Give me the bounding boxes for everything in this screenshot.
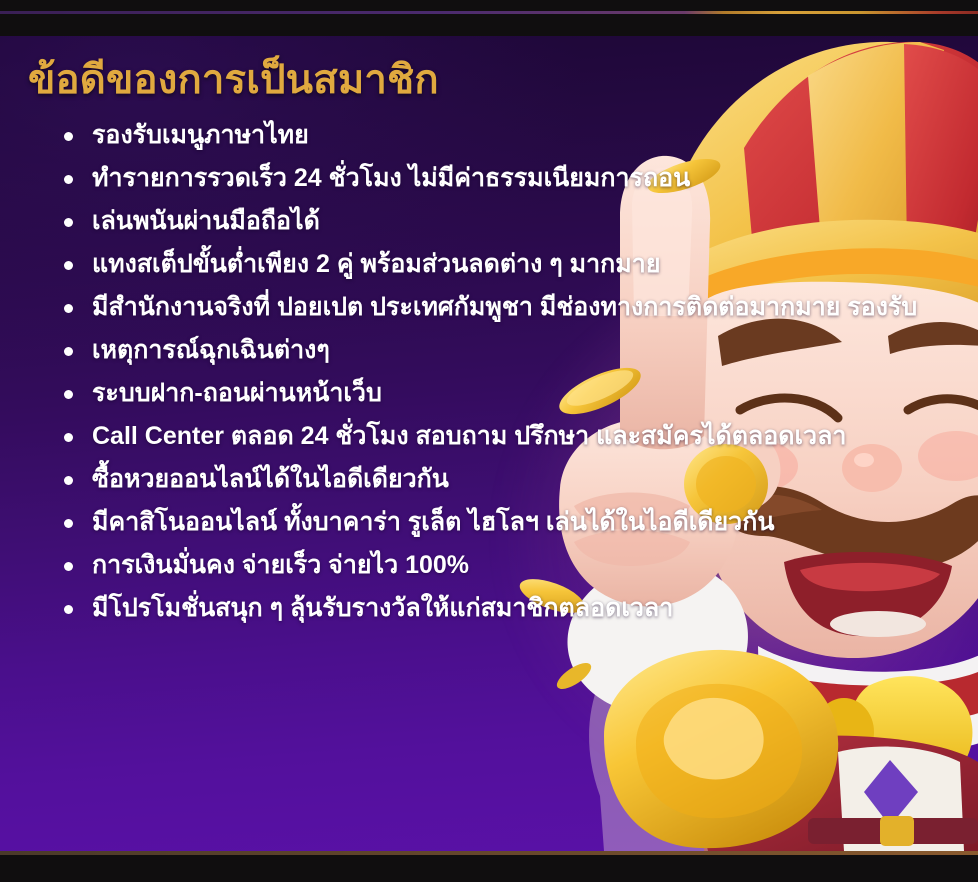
banner-screenshot: ข้อดีของการเป็นสมาชิก รองรับเมนูภาษาไทย … xyxy=(0,0,978,882)
banner-panel: ข้อดีของการเป็นสมาชิก รองรับเมนูภาษาไทย … xyxy=(0,36,978,851)
list-item: มีโปรโมชั่นสนุก ๆ ลุ้นรับรางวัลให้แก่สมา… xyxy=(62,592,952,625)
bottom-accent-line xyxy=(0,851,978,855)
list-item: การเงินมั่นคง จ่ายเร็ว จ่ายไว 100% xyxy=(62,549,952,582)
list-item: แทงสเต็ปขั้นต่ำเพียง 2 คู่ พร้อมส่วนลดต่… xyxy=(62,248,952,281)
list-item: ทำรายการรวดเร็ว 24 ชั่วโมง ไม่มีค่าธรรมเ… xyxy=(62,162,952,195)
letterbox-top xyxy=(0,0,978,36)
benefits-list: รองรับเมนูภาษาไทย ทำรายการรวดเร็ว 24 ชั่… xyxy=(0,119,978,625)
top-accent-line xyxy=(0,11,978,14)
list-item: ซื้อหวยออนไลน์ได้ในไอดีเดียวกัน xyxy=(62,463,952,496)
list-item: ระบบฝาก-ถอนผ่านหน้าเว็บ xyxy=(62,377,952,410)
list-item: มีสำนักงานจริงที่ ปอยเปต ประเทศกัมพูชา ม… xyxy=(62,291,952,324)
list-item: มีคาสิโนออนไลน์ ทั้งบาคาร่า รูเล็ต ไฮโลฯ… xyxy=(62,506,952,539)
page-title: ข้อดีของการเป็นสมาชิก xyxy=(0,36,978,105)
letterbox-bottom xyxy=(0,854,978,882)
list-item: รองรับเมนูภาษาไทย xyxy=(62,119,952,152)
list-item: เล่นพนันผ่านมือถือได้ xyxy=(62,205,952,238)
banner-content: ข้อดีของการเป็นสมาชิก รองรับเมนูภาษาไทย … xyxy=(0,36,978,635)
list-item: เหตุการณ์ฉุกเฉินต่างๆ xyxy=(62,334,952,367)
list-item: Call Center ตลอด 24 ชั่วโมง สอบถาม ปรึกษ… xyxy=(62,420,952,453)
